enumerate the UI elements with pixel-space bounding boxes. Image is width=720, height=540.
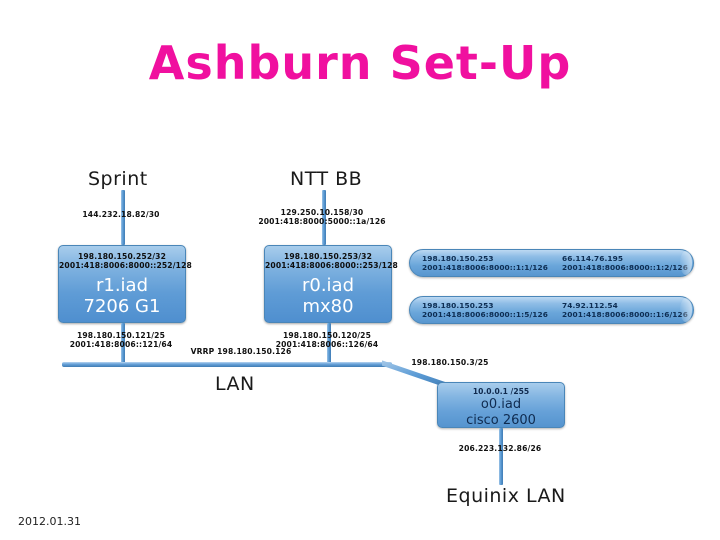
peer1-remote-v6: 2001:418:8006:8000::1:2/126 <box>562 263 688 272</box>
link-label-ntt-v6: 2001:418:8000:5000::1a/126 <box>254 217 390 227</box>
router-r1-model: 7206 G1 <box>59 297 185 317</box>
link-o0-to-equinix <box>499 428 503 485</box>
o0-model: cisco 2600 <box>438 413 564 428</box>
vrrp-label: VRRP 198.180.150.126 <box>178 347 304 357</box>
peer1-local-v4: 198.180.150.253 <box>422 254 494 263</box>
link-label-lan-to-o0: 198.180.150.3/25 <box>405 358 495 368</box>
router-r0-loopback-v6: 2001:418:8006:8000::253/128 <box>265 261 391 271</box>
page-title: Ashburn Set-Up <box>0 36 720 90</box>
equinix-lan-label: Equinix LAN <box>446 485 566 507</box>
o0-hostname: o0.iad <box>438 397 564 412</box>
link-label-equinix: 206.223.132.86/26 <box>440 444 560 454</box>
router-node-o0-iad[interactable]: 10.0.0.1 /255 o0.iad cisco 2600 <box>437 382 565 428</box>
upstream-label-sprint: Sprint <box>88 168 148 190</box>
peer1-local-v6: 2001:418:8006:8000::1:1/126 <box>422 263 548 272</box>
link-label-sprint-v4: 144.232.18.82/30 <box>53 210 189 220</box>
peer2-remote-v4: 74.92.112.54 <box>562 301 618 310</box>
peer-link-cylinder-1[interactable]: 198.180.150.253 2001:418:8006:8000::1:1/… <box>409 249 694 277</box>
lan-label-r1-v6: 2001:418:8006::121/64 <box>54 340 188 350</box>
router-r0-model: mx80 <box>265 297 391 317</box>
peer2-local-v4: 198.180.150.253 <box>422 301 494 310</box>
router-r1-hostname: r1.iad <box>59 276 185 296</box>
peer1-remote-v4: 66.114.76.195 <box>562 254 623 263</box>
upstream-label-ntt: NTT BB <box>290 168 362 190</box>
router-node-r1-iad[interactable]: 198.180.150.252/32 2001:418:8006:8000::2… <box>58 245 186 323</box>
router-node-r0-iad[interactable]: 198.180.150.253/32 2001:418:8006:8000::2… <box>264 245 392 323</box>
peer2-remote-v6: 2001:418:8006:8000::1:6/126 <box>562 310 688 319</box>
peer2-local-v6: 2001:418:8006:8000::1:5/126 <box>422 310 548 319</box>
o0-ip: 10.0.0.1 /255 <box>438 387 564 396</box>
lan-label: LAN <box>215 373 255 395</box>
lan-bus-icon <box>62 362 392 367</box>
slide-canvas: Ashburn Set-Up Sprint 144.232.18.82/30 N… <box>0 0 720 540</box>
router-r1-loopback-v6: 2001:418:8006:8000::252/128 <box>59 261 185 271</box>
slide-date: 2012.01.31 <box>18 515 81 528</box>
router-r0-hostname: r0.iad <box>265 276 391 296</box>
peer-link-cylinder-2[interactable]: 198.180.150.253 2001:418:8006:8000::1:5/… <box>409 296 694 324</box>
